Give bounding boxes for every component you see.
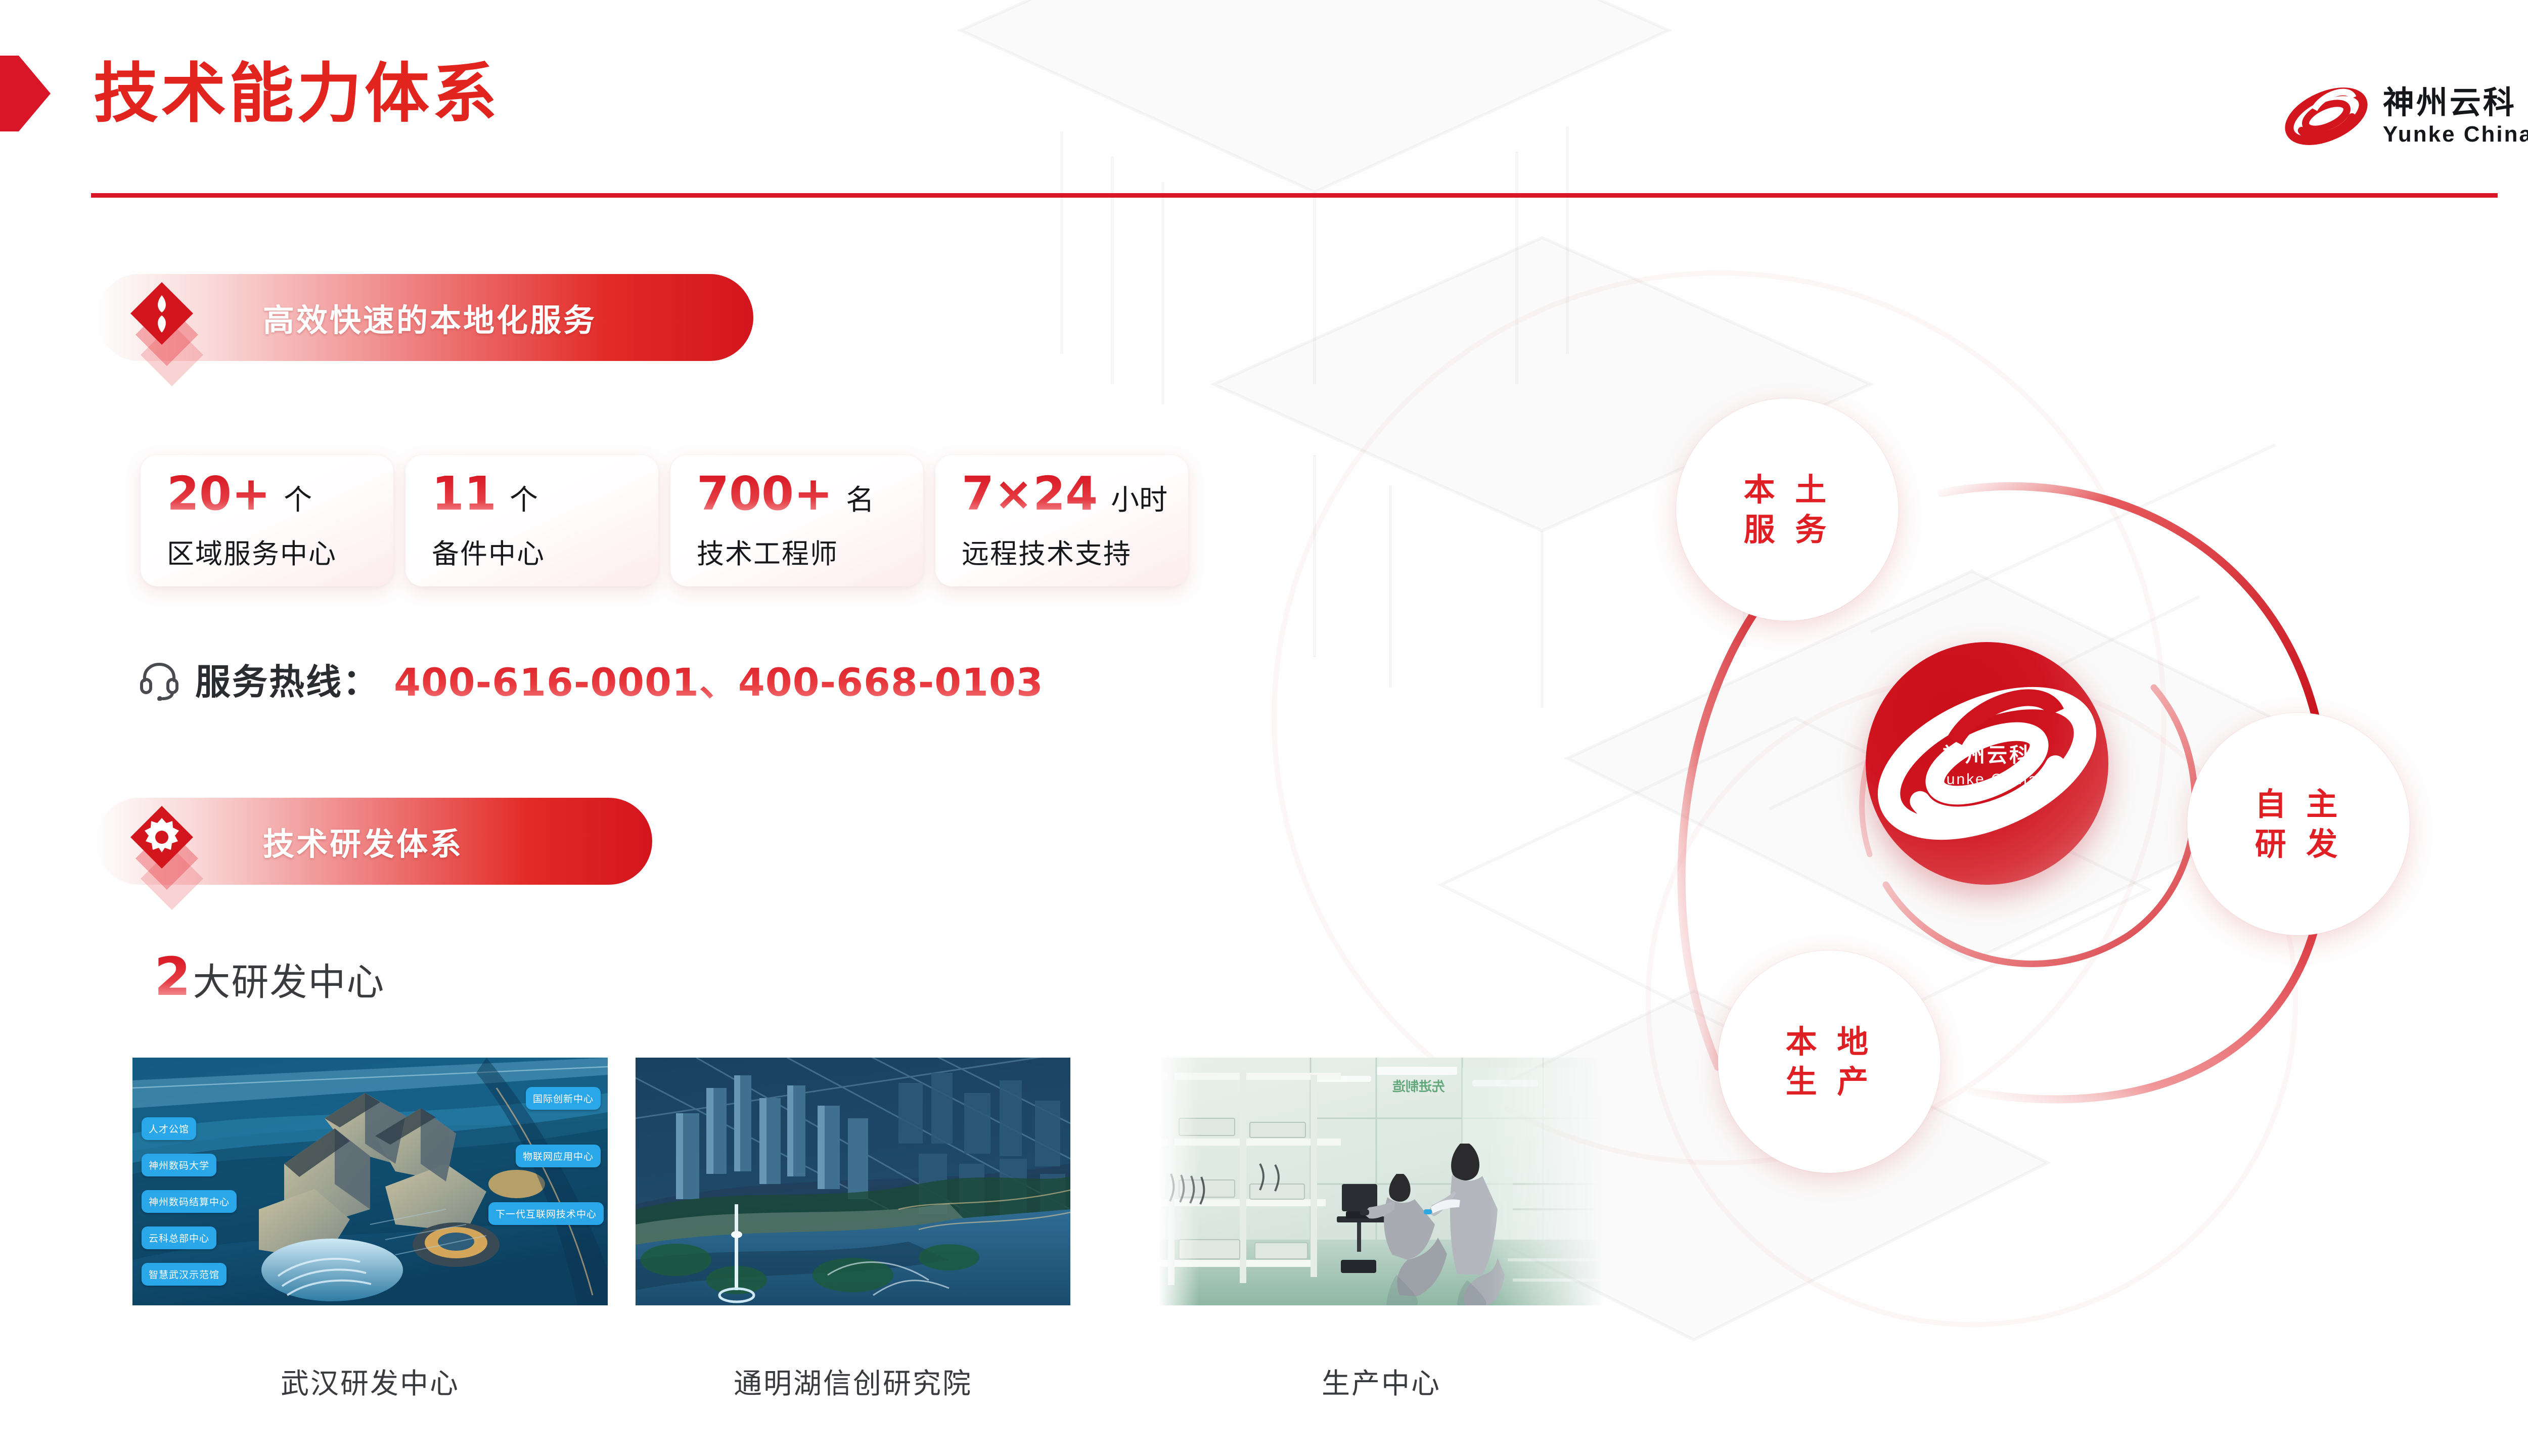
photo-tongminghu — [636, 1058, 1070, 1305]
hotline-label: 服务热线： — [195, 654, 380, 705]
rd-center-count: 2 大研发中心 — [154, 950, 385, 1006]
node-line-1: 自 主 — [2255, 784, 2342, 824]
photo-callout: 云科总部中心 — [142, 1226, 216, 1249]
stat-unit: 小时 — [1111, 477, 1167, 518]
photo-wuhan: 人才公馆 神州数码大学 神州数码结算中心 云科总部中心 智慧武汉示范馆 国际创新… — [132, 1058, 608, 1305]
photo-caption: 生产中心 — [1159, 1361, 1604, 1402]
section-header-rd: 技术研发体系 — [96, 798, 652, 885]
photo-callout: 神州数码大学 — [142, 1154, 216, 1176]
brand-name-cn: 神州云科 — [2383, 87, 2528, 118]
photo-callout: 智慧武汉示范馆 — [142, 1263, 227, 1286]
stacked-diamond-icon — [96, 259, 217, 390]
stat-label: 备件中心 — [432, 531, 658, 571]
photo-production: 先进制造 — [1159, 1058, 1604, 1305]
photo-item-production: 先进制造 — [1159, 1058, 1604, 1305]
stat-card: 20+ 个 区域服务中心 — [141, 455, 393, 586]
yunke-swirl-logo-icon — [1866, 642, 2108, 885]
photo-callout: 下一代互联网技术中心 — [488, 1202, 604, 1225]
diagram-node-local-production[interactable]: 本 地 生 产 — [1718, 950, 1940, 1173]
photo-callout: 物联网应用中心 — [516, 1145, 601, 1167]
section-header-service: 高效快速的本地化服务 — [96, 274, 753, 361]
gear-diamond-icon — [96, 783, 217, 914]
stat-label: 区域服务中心 — [167, 531, 393, 571]
page-title: 技术能力体系 — [94, 56, 500, 132]
stat-label: 技术工程师 — [697, 531, 923, 571]
photo-callout: 人才公馆 — [142, 1117, 196, 1140]
stat-unit: 个 — [284, 477, 312, 518]
stat-card: 11 个 备件中心 — [405, 455, 658, 586]
photo-caption: 武汉研发中心 — [132, 1361, 608, 1402]
stat-unit: 名 — [846, 477, 874, 518]
photo-callout: 国际创新中心 — [526, 1087, 601, 1110]
stat-card: 7×24 小时 远程技术支持 — [935, 455, 1188, 586]
yunke-swirl-logo-icon — [2283, 86, 2370, 147]
node-line-2: 研 发 — [2255, 824, 2342, 864]
svg-text:先进制造: 先进制造 — [1392, 1079, 1445, 1095]
header-divider — [91, 193, 2498, 198]
stat-card-list: 20+ 个 区域服务中心 11 个 备件中心 700+ 名 技术工程师 7×24… — [141, 455, 1188, 586]
diagram-core-logo: 神州云科 Yunke China — [1866, 642, 2108, 885]
stat-unit: 个 — [510, 477, 538, 518]
stat-card: 700+ 名 技术工程师 — [670, 455, 923, 586]
service-hotline: 服务热线： 400-616-0001、400-668-0103 — [138, 651, 1044, 707]
photo-item-wuhan: 人才公馆 神州数码大学 神州数码结算中心 云科总部中心 智慧武汉示范馆 国际创新… — [132, 1058, 608, 1305]
headset-icon — [138, 657, 181, 701]
title-arrow-marker — [0, 56, 51, 131]
section-header-label: 技术研发体系 — [263, 818, 463, 864]
diagram-node-local-service[interactable]: 本 土 服 务 — [1676, 398, 1899, 621]
stat-value: 20+ — [167, 471, 270, 517]
node-line-2: 服 务 — [1744, 510, 1831, 550]
diagram-node-self-rd[interactable]: 自 主 研 发 — [2187, 713, 2410, 935]
hotline-numbers: 400-616-0001、400-668-0103 — [394, 651, 1044, 707]
node-line-1: 本 地 — [1786, 1022, 1873, 1062]
photo-caption: 通明湖信创研究院 — [636, 1361, 1070, 1402]
stat-value: 11 — [432, 471, 496, 517]
brand-logo: 神州云科 Yunke China — [2283, 86, 2528, 147]
photo-callout: 神州数码结算中心 — [142, 1190, 237, 1213]
capability-diagram: 本 土 服 务 自 主 研 发 本 地 生 产 — [1658, 384, 2528, 1274]
rd-count-label: 大研发中心 — [193, 952, 385, 1006]
brand-name-en: Yunke China — [2383, 123, 2528, 146]
node-line-2: 生 产 — [1786, 1062, 1873, 1102]
rd-count-number: 2 — [154, 950, 191, 1003]
section-header-label: 高效快速的本地化服务 — [263, 295, 597, 340]
stat-label: 远程技术支持 — [962, 531, 1188, 571]
slide-root: 技术能力体系 神州云科 Yunke China 高效快速的 — [0, 0, 2528, 1456]
stat-value: 700+ — [697, 471, 833, 517]
stat-value: 7×24 — [962, 471, 1098, 517]
node-line-1: 本 土 — [1744, 470, 1831, 510]
photo-item-tongminghu: 通明湖信创研究院 — [636, 1058, 1070, 1305]
